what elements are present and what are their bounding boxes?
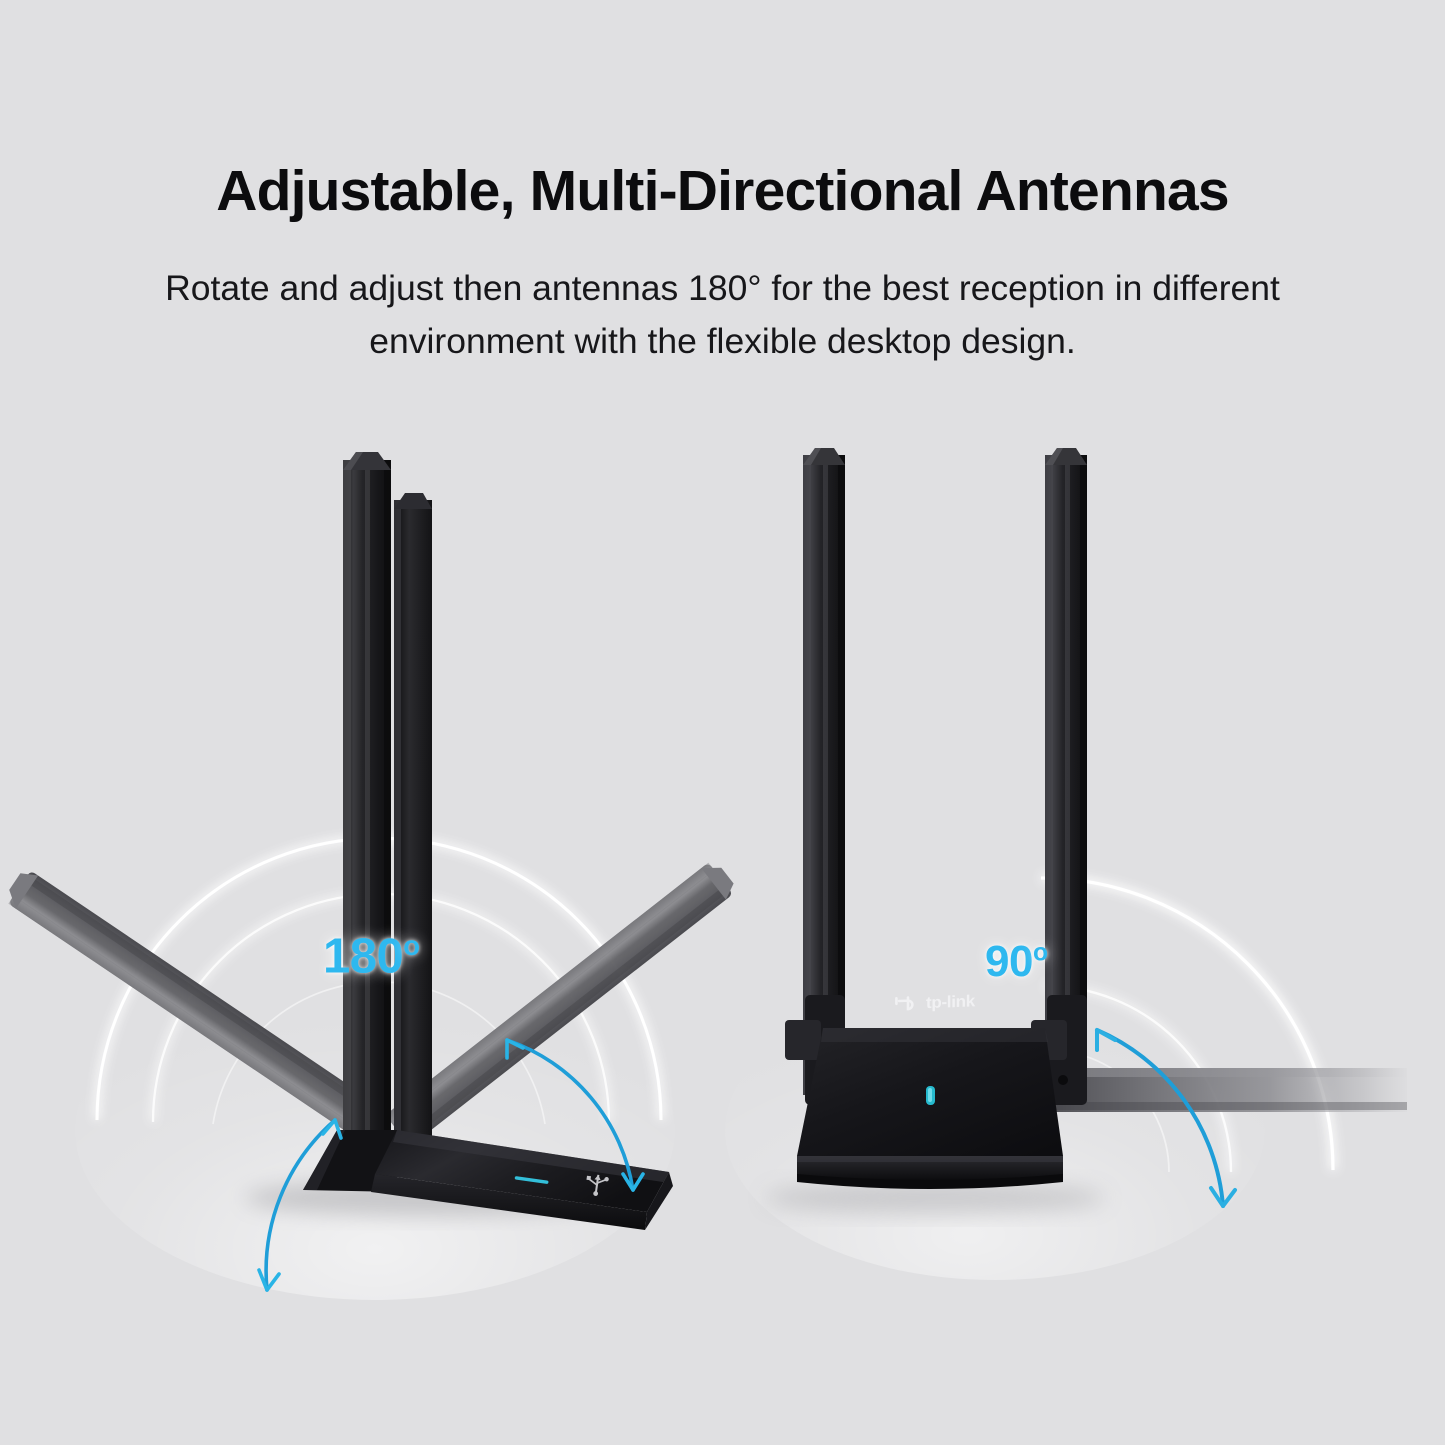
adapter-body-flat: [765, 448, 1105, 1214]
illustration-left-180: 180o: [45, 430, 725, 1310]
hinge-left: [785, 1020, 821, 1060]
antenna-right: [1045, 448, 1087, 1105]
page-title: Adjustable, Multi-Directional Antennas: [0, 0, 1445, 222]
antenna-front: [343, 452, 391, 1150]
right-unit-graphic: [745, 430, 1405, 1310]
illustration-right-90: 90o tp-link: [745, 430, 1405, 1310]
page-subtitle: Rotate and adjust then antennas 180° for…: [98, 222, 1348, 369]
antenna-left: [803, 448, 845, 1105]
left-unit-graphic: [45, 430, 725, 1310]
text-block: Adjustable, Multi-Directional Antennas R…: [0, 0, 1445, 368]
ghost-antenna-horizontal: [1045, 1068, 1407, 1112]
antenna-rear: [394, 493, 432, 1140]
product-feature-panel: Adjustable, Multi-Directional Antennas R…: [0, 0, 1445, 1445]
illustration-stage: 180o: [0, 430, 1445, 1310]
